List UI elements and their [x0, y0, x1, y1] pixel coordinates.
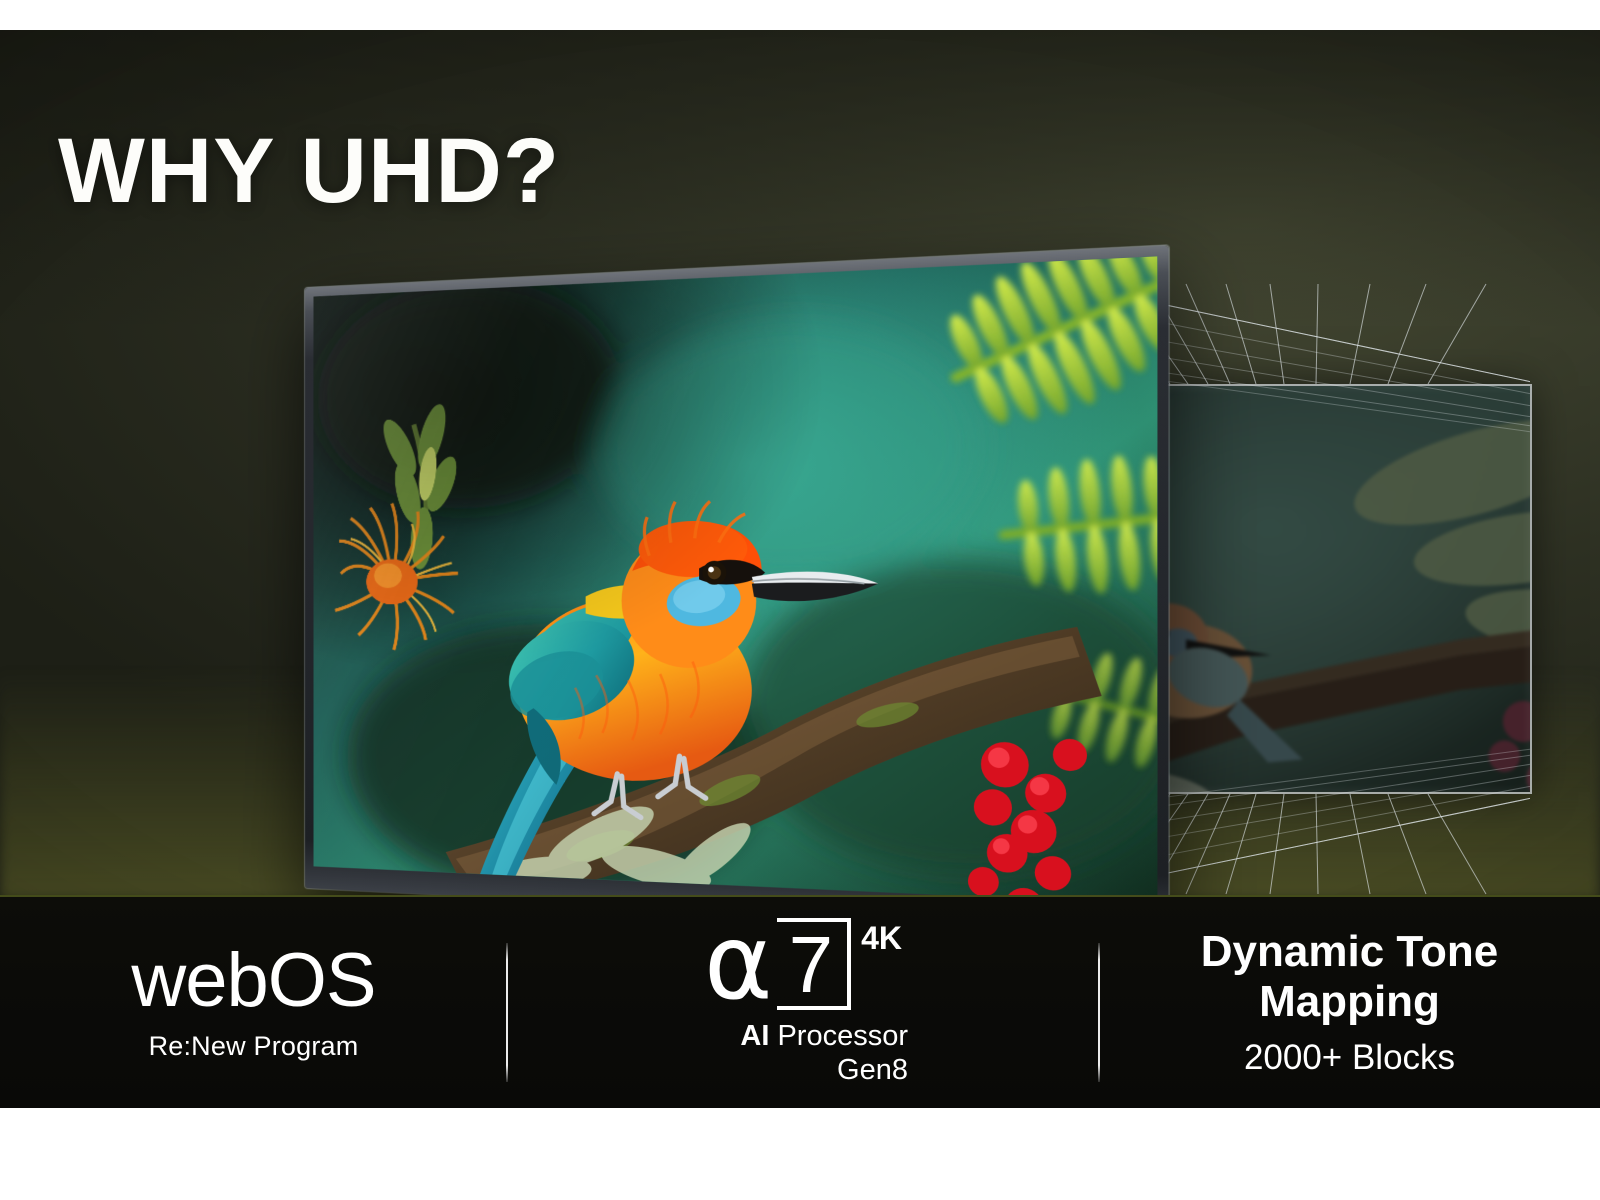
resolution-badge: 4K	[861, 920, 902, 957]
alpha-glyph-icon: α	[704, 920, 773, 1005]
marketing-slide: WHY UHD? webOS Re:New Program α 7 4K	[0, 0, 1600, 1200]
slide-content-area: WHY UHD? webOS Re:New Program α 7 4K	[0, 30, 1600, 1108]
alpha-seven-box: 7	[777, 918, 852, 1010]
alpha-generation-number: 7	[789, 925, 834, 1005]
dtm-title-line-2: Mapping	[1201, 977, 1498, 1026]
alpha-processor-line: AI Processor	[698, 1020, 908, 1052]
ai-label: AI	[740, 1020, 769, 1052]
processor-label: Processor	[769, 1020, 908, 1052]
alpha-gen-label: Gen8	[698, 1053, 908, 1087]
dtm-subtitle: 2000+ Blocks	[1244, 1038, 1455, 1078]
page-title: WHY UHD?	[58, 125, 560, 217]
alpha-processor-lockup: α 7 4K	[704, 918, 902, 1010]
feature-alpha-processor: α 7 4K AI Processor Gen8	[507, 897, 1099, 1108]
webos-wordmark: webOS	[131, 943, 375, 1019]
feature-dynamic-tone-mapping: Dynamic Tone Mapping 2000+ Blocks	[1099, 897, 1600, 1108]
dtm-title: Dynamic Tone Mapping	[1201, 927, 1498, 1026]
dtm-title-line-1: Dynamic Tone	[1201, 927, 1498, 976]
feature-webos: webOS Re:New Program	[0, 897, 507, 1108]
feature-bar: webOS Re:New Program α 7 4K AI Processor	[0, 895, 1600, 1108]
alpha-subtitle-block: AI Processor Gen8	[698, 1020, 908, 1087]
webos-subtitle: Re:New Program	[149, 1031, 359, 1062]
